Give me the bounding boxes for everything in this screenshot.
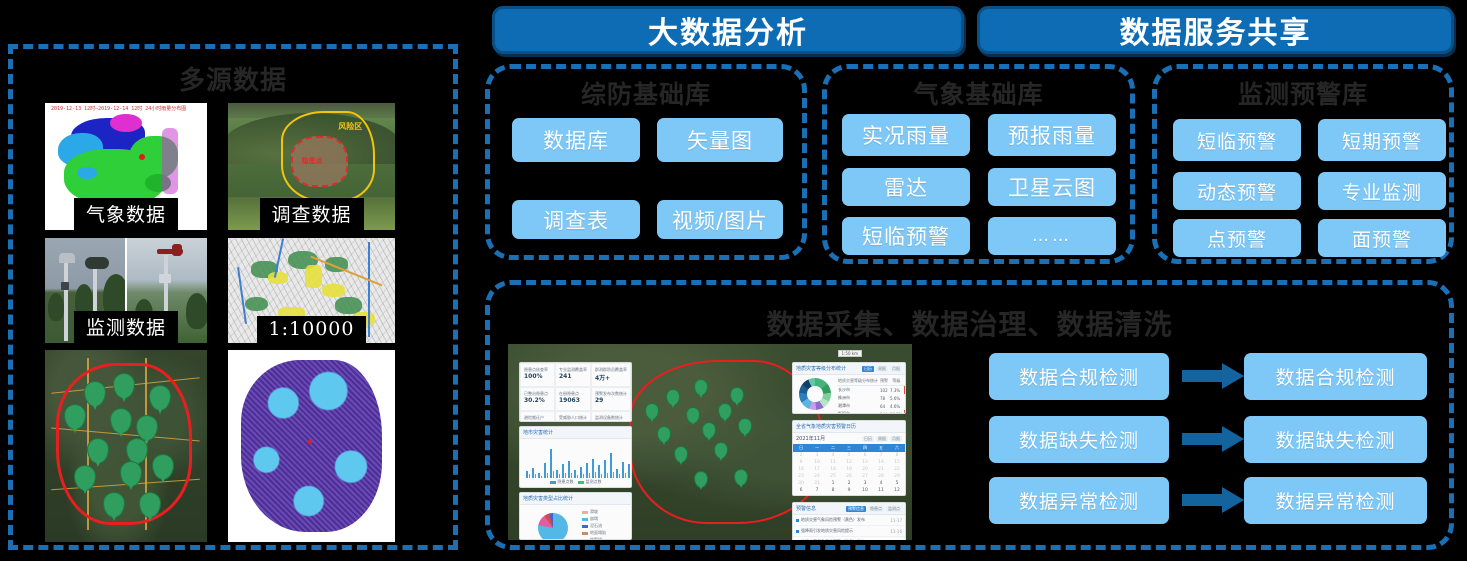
bar-group bbox=[616, 445, 620, 478]
calendar-card-header: 全省气象地质灾害预警日历 bbox=[793, 421, 905, 433]
pill-short-period-warning[interactable]: 短期预警 bbox=[1318, 119, 1446, 161]
bar-group bbox=[610, 445, 614, 478]
arrow-right-icon bbox=[1182, 426, 1244, 452]
calendar-day[interactable]: 5 bbox=[841, 452, 857, 459]
pie-legend-item: 滑坡 bbox=[582, 509, 606, 515]
pill-realtime-rainfall[interactable]: 实况雨量 bbox=[842, 114, 970, 156]
pie-legend-item: 崩塌 bbox=[582, 516, 606, 522]
calendar-week-row: 6789101112 bbox=[793, 487, 905, 494]
calendar-day[interactable]: 8 bbox=[825, 487, 841, 494]
calendar-day[interactable]: 26 bbox=[841, 473, 857, 480]
warning-tab-active[interactable]: 预警信息 bbox=[846, 506, 866, 512]
dashboard-bar-chart-card[interactable]: 地市灾害统计 隐患点数 监测点数 bbox=[519, 426, 632, 488]
pie-legend-item: 泥石流 bbox=[582, 523, 606, 529]
calendar-month-label: 2021年11月 bbox=[796, 435, 825, 442]
tbl-cell: 株洲市 bbox=[837, 394, 879, 402]
dashboard-kpi-card[interactable]: 隐患点核查率 100% 专业监测覆盖率 241 群测群防员覆盖率 4万+ 已整治… bbox=[519, 362, 632, 422]
calendar-day[interactable]: 8 bbox=[889, 452, 905, 459]
calendar-day[interactable]: 21 bbox=[873, 466, 889, 473]
warning-tab[interactable]: 监测点 bbox=[886, 506, 902, 512]
list-item[interactable]: 地质灾害气象风险预警（黄色）发布11-17 bbox=[793, 515, 905, 526]
calendar-weekday: 四 bbox=[857, 444, 873, 452]
calendar-weekday: 六 bbox=[889, 444, 905, 452]
kpi-value: 30.2% bbox=[524, 397, 551, 404]
calendar-day[interactable]: 22 bbox=[889, 466, 905, 473]
kpi-cell: 群测群防员覆盖率 4万+ bbox=[591, 363, 631, 387]
kpi-cell: 受威胁人口统计 240114 bbox=[555, 411, 591, 422]
image-card-meteorological-data: 2019-12-13 12时—2019-12-14 12时 24小时雨量分布图 … bbox=[45, 103, 207, 230]
kpi-value: 29 bbox=[595, 397, 627, 404]
tbl-cell: 湘潭市 bbox=[837, 402, 879, 410]
hazard-point-label: 隐患点 bbox=[301, 156, 322, 166]
calendar-day[interactable]: 23 bbox=[793, 473, 809, 480]
bar-group bbox=[574, 445, 578, 478]
bar-group bbox=[532, 445, 536, 478]
donut-card-tabs[interactable]: 日历 周报 月报 bbox=[862, 366, 902, 372]
bar-legend-label: 隐患点数 bbox=[558, 479, 574, 485]
bar-group bbox=[526, 445, 530, 478]
calendar-day[interactable]: 11 bbox=[825, 459, 841, 466]
calendar-tab-month[interactable]: 月报 bbox=[890, 436, 902, 442]
calendar-day[interactable]: 10 bbox=[809, 459, 825, 466]
calendar-week-row: 9101112131415 bbox=[793, 459, 905, 466]
calendar-day[interactable]: 15 bbox=[889, 459, 905, 466]
bar-group bbox=[562, 445, 566, 478]
kpi-value: 521 bbox=[524, 421, 551, 422]
pill-professional-monitoring[interactable]: 专业监测 bbox=[1318, 172, 1446, 210]
kpi-value: 4万+ bbox=[595, 373, 627, 382]
bar-group bbox=[628, 445, 632, 478]
calendar-day[interactable]: 18 bbox=[825, 466, 841, 473]
kpi-cell: 预警发布次数统计 29 bbox=[591, 387, 631, 411]
calendar-week-row: 2345678 bbox=[793, 452, 905, 459]
donut-tab[interactable]: 周报 bbox=[876, 366, 888, 372]
bar-group bbox=[550, 445, 554, 478]
calendar-day[interactable]: 5 bbox=[889, 480, 905, 487]
calendar-day[interactable]: 7 bbox=[873, 452, 889, 459]
calendar-tab-day[interactable]: 日历 bbox=[862, 436, 874, 442]
panel-title-comprehensive-prevention-db: 综防基础库 bbox=[485, 75, 807, 111]
image-card-monitoring-data: 监测数据 bbox=[45, 238, 207, 343]
bar-group bbox=[592, 445, 596, 478]
list-item[interactable]: 地质灾害气象风险预警（橙色）发布11-15 bbox=[793, 537, 905, 540]
calendar-day[interactable]: 3 bbox=[857, 480, 873, 487]
density-map-art bbox=[228, 350, 395, 542]
donut-tab-active[interactable]: 日历 bbox=[862, 366, 874, 372]
left-panel-title: 多源数据 bbox=[8, 60, 458, 97]
calendar-week-row: 23242526272829 bbox=[793, 473, 905, 480]
donut-card-header: 地质灾害等级分布统计 日历 周报 月报 bbox=[793, 363, 905, 375]
list-item[interactable]: 强降雨引发地质灾害风险提示11-16 bbox=[793, 526, 905, 537]
list-item-text: 地质灾害气象风险预警（橙色）发布 bbox=[801, 539, 865, 540]
bar-group bbox=[580, 445, 584, 478]
pie-legend-label: 地裂缝 bbox=[590, 537, 602, 540]
pill-short-term-warning-met[interactable]: 短临预警 bbox=[842, 217, 970, 255]
satellite-map-art bbox=[45, 350, 207, 542]
pie-legend-item: 地面塌陷 bbox=[582, 530, 606, 536]
pill-vector-map[interactable]: 矢量图 bbox=[657, 118, 783, 162]
arrow-right-icon bbox=[1182, 363, 1244, 389]
bar-chart-plot bbox=[526, 445, 627, 478]
kpi-value: 19063 bbox=[559, 397, 587, 404]
image-card-density-distribution-map bbox=[228, 350, 395, 542]
bar-group bbox=[604, 445, 608, 478]
bar-group bbox=[598, 445, 602, 478]
calendar-day[interactable]: 7 bbox=[809, 487, 825, 494]
tbl-cell: 衡阳市 bbox=[837, 410, 879, 414]
pie-legend-label: 地面塌陷 bbox=[590, 530, 606, 536]
donut-chart-plot bbox=[799, 378, 831, 410]
donut-chart-title: 地质灾害等级分布统计 bbox=[796, 365, 846, 372]
calendar-title: 全省气象地质灾害预警日历 bbox=[796, 423, 856, 430]
pill-dynamic-warning[interactable]: 动态预警 bbox=[1173, 172, 1301, 210]
warning-list-tabs[interactable]: 预警信息 隐患点 监测点 bbox=[846, 506, 902, 512]
panel-title-monitoring-warning-db: 监测预警库 bbox=[1152, 75, 1454, 111]
calendar-week-row: 303112345 bbox=[793, 480, 905, 487]
header-data-service-sharing[interactable]: 数据服务共享 bbox=[977, 6, 1454, 54]
bar-legend-item: 监测点数 bbox=[578, 479, 602, 485]
pill-forecast-rainfall[interactable]: 预报雨量 bbox=[988, 114, 1116, 156]
pill-database[interactable]: 数据库 bbox=[512, 118, 640, 162]
kpi-cell: 在册隐患点 19063 bbox=[555, 387, 591, 411]
dashboard-pie-chart-card[interactable]: 地质灾害类型占比统计 滑坡 崩塌 泥石流 地面塌陷 地裂缝 其他 bbox=[519, 492, 632, 540]
calendar-week-row: 16171819202122 bbox=[793, 466, 905, 473]
calendar-day[interactable]: 20 bbox=[857, 466, 873, 473]
pie-chart-plot bbox=[538, 513, 568, 540]
pill-flow-src-compliance[interactable]: 数据合规检测 bbox=[989, 353, 1169, 400]
calendar-day[interactable]: 31 bbox=[809, 480, 825, 487]
calendar-weekday: 五 bbox=[873, 444, 889, 452]
pill-flow-dst-anomaly[interactable]: 数据异常检测 bbox=[1244, 477, 1427, 524]
pie-legend-label: 崩塌 bbox=[590, 516, 598, 522]
diagram-root: 多源数据 2019-12-13 12时—2019-12-14 12时 24小时雨… bbox=[0, 0, 1467, 561]
bar-group bbox=[544, 445, 548, 478]
kpi-cell: 专业监测覆盖率 241 bbox=[555, 363, 591, 387]
image-caption-meteorological: 气象数据 bbox=[74, 198, 178, 230]
kpi-cell: 监测设备数统计 41 bbox=[591, 411, 631, 422]
kpi-value: 100% bbox=[524, 373, 551, 380]
bar-legend-item: 隐患点数 bbox=[550, 479, 574, 485]
kpi-cell: 避险搬迁户 521 bbox=[520, 411, 555, 422]
pill-survey-table[interactable]: 调查表 bbox=[512, 200, 640, 239]
bar-chart-card-header: 地市灾害统计 bbox=[520, 427, 631, 439]
dashboard-donut-chart-card[interactable]: 地质灾害等级分布统计 日历 周报 月报 地质灾害等级分布统计预警等级占比 长沙市… bbox=[792, 362, 906, 414]
calendar-day[interactable]: 24 bbox=[809, 473, 825, 480]
pill-flow-dst-missing[interactable]: 数据缺失检测 bbox=[1244, 416, 1427, 463]
pill-point-warning[interactable]: 点预警 bbox=[1173, 219, 1301, 257]
calendar-day[interactable]: 16 bbox=[793, 466, 809, 473]
calendar-day[interactable]: 6 bbox=[793, 487, 809, 494]
image-caption-monitoring: 监测数据 bbox=[74, 311, 178, 343]
calendar-day[interactable]: 30 bbox=[793, 480, 809, 487]
calendar-day[interactable]: 14 bbox=[873, 459, 889, 466]
panel-title-data-pipeline: 数据采集、数据治理、数据清洗 bbox=[485, 303, 1454, 343]
calendar-day[interactable]: 11 bbox=[873, 487, 889, 494]
image-card-geological-map: 1:10000 bbox=[228, 238, 395, 343]
dashboard-warning-list-card[interactable]: 预警信息 预警信息 隐患点 监测点 地质灾害气象风险预警（黄色）发布11-17 … bbox=[792, 502, 906, 540]
calendar-tabs[interactable]: 日历 周报 月报 bbox=[862, 436, 902, 442]
calendar-weekday: 三 bbox=[841, 444, 857, 452]
calendar-day[interactable]: 2 bbox=[793, 452, 809, 459]
pie-legend-label: 滑坡 bbox=[590, 509, 598, 515]
calendar-tab-week[interactable]: 周报 bbox=[876, 436, 888, 442]
pill-flow-dst-compliance[interactable]: 数据合规检测 bbox=[1244, 353, 1427, 400]
bar-group bbox=[568, 445, 572, 478]
calendar-weekday: 一 bbox=[809, 444, 825, 452]
calendar-grid[interactable]: 日一二三四五六234567891011121314151617181920212… bbox=[793, 444, 905, 494]
kpi-value: 240114 bbox=[559, 421, 587, 422]
calendar-day[interactable]: 1 bbox=[825, 480, 841, 487]
pill-area-warning[interactable]: 面预警 bbox=[1318, 219, 1446, 257]
calendar-day[interactable]: 9 bbox=[793, 459, 809, 466]
warning-tab[interactable]: 隐患点 bbox=[868, 506, 884, 512]
bar-group bbox=[556, 445, 560, 478]
kpi-cell: 已整治隐患点 30.2% bbox=[520, 387, 555, 411]
image-card-satellite-station-map bbox=[45, 350, 207, 542]
pill-short-imminent-warning[interactable]: 短临预警 bbox=[1173, 119, 1301, 161]
calendar-day[interactable]: 19 bbox=[841, 466, 857, 473]
calendar-day[interactable]: 12 bbox=[841, 459, 857, 466]
warning-list-header: 预警信息 预警信息 隐患点 监测点 bbox=[793, 503, 905, 515]
calendar-weekday: 二 bbox=[825, 444, 841, 452]
calendar-day[interactable]: 3 bbox=[809, 452, 825, 459]
image-caption-scale: 1:10000 bbox=[257, 316, 367, 343]
calendar-day[interactable]: 29 bbox=[889, 473, 905, 480]
bar-chart-title: 地市灾害统计 bbox=[523, 429, 553, 436]
calendar-day[interactable]: 6 bbox=[857, 452, 873, 459]
pie-chart-title: 地质灾害类型占比统计 bbox=[523, 495, 573, 502]
bar-legend-label: 监测点数 bbox=[586, 479, 602, 485]
image-card-survey-data: 风险区 隐患点 调查数据 bbox=[228, 103, 395, 230]
calendar-day[interactable]: 27 bbox=[857, 473, 873, 480]
dashboard-screenshot[interactable]: 隐患点核查率 100% 专业监测覆盖率 241 群测群防员覆盖率 4万+ 已整治… bbox=[508, 344, 912, 540]
calendar-day[interactable]: 12 bbox=[889, 487, 905, 494]
calendar-day[interactable]: 4 bbox=[873, 480, 889, 487]
calendar-day[interactable]: 17 bbox=[809, 466, 825, 473]
pie-chart-card-header: 地质灾害类型占比统计 bbox=[520, 493, 631, 505]
risk-zone-label: 风险区 bbox=[338, 121, 362, 132]
panel-title-meteorological-db: 气象基础库 bbox=[822, 75, 1135, 111]
warning-list-title: 预警信息 bbox=[796, 505, 816, 512]
donut-side-table: 地质灾害等级分布统计预警等级占比 长沙市1027.3%高 株洲市785.6%中 … bbox=[837, 377, 906, 414]
calendar-day[interactable]: 4 bbox=[825, 452, 841, 459]
kpi-cell: 隐患点核查率 100% bbox=[520, 363, 555, 387]
calendar-day[interactable]: 9 bbox=[841, 487, 857, 494]
bar-group bbox=[538, 445, 542, 478]
calendar-day[interactable]: 13 bbox=[857, 459, 873, 466]
list-item-text: 地质灾害气象风险预警（黄色）发布 bbox=[801, 517, 865, 523]
calendar-day[interactable]: 2 bbox=[841, 480, 857, 487]
pill-flow-src-missing[interactable]: 数据缺失检测 bbox=[989, 416, 1169, 463]
calendar-day[interactable]: 10 bbox=[857, 487, 873, 494]
map-scale-bar: 1:50 km bbox=[838, 350, 862, 357]
pill-more-ellipsis[interactable]: …… bbox=[988, 217, 1116, 255]
kpi-value: 41 bbox=[595, 421, 627, 422]
tbl-col: 地质灾害等级分布统计 bbox=[837, 377, 879, 386]
image-caption-survey: 调查数据 bbox=[259, 198, 363, 230]
pie-legend-label: 泥石流 bbox=[590, 523, 602, 529]
pill-satellite-cloud-map[interactable]: 卫星云图 bbox=[988, 168, 1116, 206]
pill-flow-src-anomaly[interactable]: 数据异常检测 bbox=[989, 477, 1169, 524]
calendar-weekday: 日 bbox=[793, 444, 809, 452]
pill-radar[interactable]: 雷达 bbox=[842, 168, 970, 206]
rainfall-map-header-text: 2019-12-13 12时—2019-12-14 12时 24小时雨量分布图 bbox=[51, 105, 203, 112]
tbl-cell: 长沙市 bbox=[837, 386, 879, 395]
header-big-data-analysis[interactable]: 大数据分析 bbox=[492, 6, 964, 54]
pie-legend-item: 地裂缝 bbox=[582, 537, 606, 540]
kpi-grid: 隐患点核查率 100% 专业监测覆盖率 241 群测群防员覆盖率 4万+ 已整治… bbox=[520, 363, 631, 422]
list-item-text: 强降雨引发地质灾害风险提示 bbox=[801, 528, 853, 534]
bar-group bbox=[586, 445, 590, 478]
arrow-right-icon bbox=[1182, 487, 1244, 513]
calendar-day[interactable]: 25 bbox=[825, 473, 841, 480]
dashboard-calendar-card[interactable]: 全省气象地质灾害预警日历 2021年11月 日历 周报 月报 日一二三四五六23… bbox=[792, 420, 906, 496]
pill-video-image[interactable]: 视频/图片 bbox=[657, 200, 783, 239]
kpi-value: 241 bbox=[559, 373, 587, 380]
calendar-day[interactable]: 28 bbox=[873, 473, 889, 480]
bar-group bbox=[622, 445, 626, 478]
donut-tab[interactable]: 月报 bbox=[890, 366, 902, 372]
